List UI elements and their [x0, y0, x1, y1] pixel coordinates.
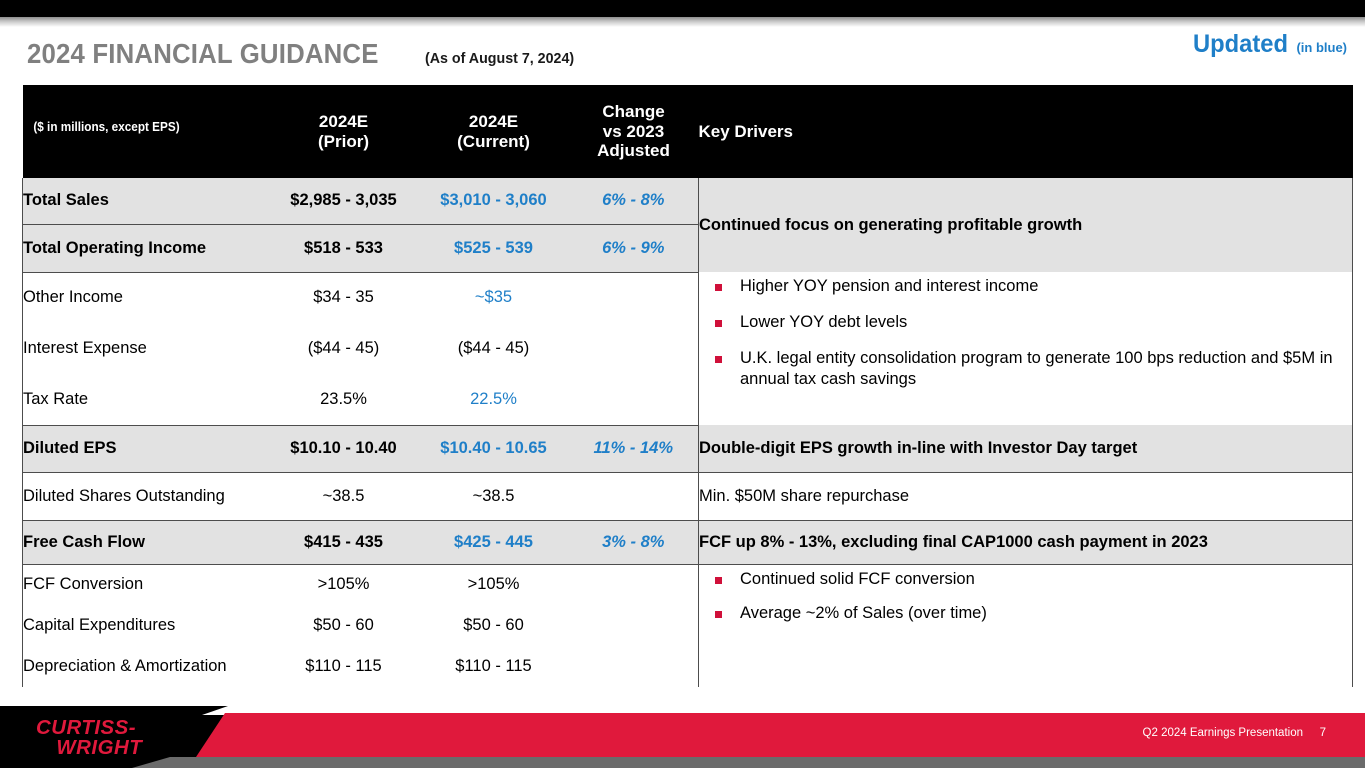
updated-annotation: Updated (in blue): [1188, 30, 1347, 59]
bullet-text: U.K. legal entity consolidation program …: [740, 349, 1333, 388]
top-shadow-gradient: [0, 17, 1365, 27]
row-label-free-cash-flow: Free Cash Flow: [23, 520, 269, 564]
logo-line-1: CURTISS-: [36, 717, 136, 739]
cell-current-capital-expenditures: $50 - 60: [419, 605, 569, 646]
table-row-diluted-shares: Diluted Shares Outstanding ~38.5 ~38.5 M…: [23, 472, 1353, 520]
slide-canvas: 2024 FINANCIAL GUIDANCE (As of August 7,…: [0, 0, 1365, 768]
driver-bullet-list-2: Higher YOY pension and interest income L…: [699, 272, 1352, 390]
slide-footer: CURTISS- WRIGHT Q2 2024 Earnings Present…: [0, 706, 1365, 768]
cell-current-diluted-eps: $10.40 - 10.65: [419, 425, 569, 472]
title-as-of-text: (As of August 7, 2024): [425, 50, 574, 67]
driver-bullet-list-3: Continued solid FCF conversion Average ~…: [699, 565, 1352, 624]
header-prior-line1: 2024E: [269, 112, 419, 132]
bullet-text: Higher YOY pension and interest income: [740, 277, 1038, 295]
list-item: Continued solid FCF conversion: [713, 569, 1352, 590]
row-label-capital-expenditures: Capital Expenditures: [23, 605, 269, 646]
cell-prior-diluted-eps: $10.10 - 10.40: [269, 425, 419, 472]
header-prior-cell: 2024E (Prior): [269, 85, 419, 178]
cell-change-interest-expense: [569, 323, 699, 374]
bullet-text: Continued solid FCF conversion: [740, 570, 975, 588]
table-row-diluted-eps: Diluted EPS $10.10 - 10.40 $10.40 - 10.6…: [23, 425, 1353, 472]
table-row-free-cash-flow: Free Cash Flow $415 - 435 $425 - 445 3% …: [23, 520, 1353, 564]
row-label-interest-expense: Interest Expense: [23, 323, 269, 374]
cell-driver-group-3: Continued solid FCF conversion Average ~…: [699, 564, 1353, 687]
row-label-tax-rate: Tax Rate: [23, 374, 269, 425]
header-current-line2: (Current): [419, 132, 569, 152]
row-label-diluted-eps: Diluted EPS: [23, 425, 269, 472]
title-main-text: 2024 FINANCIAL GUIDANCE: [27, 38, 379, 70]
bullet-square-icon: [715, 320, 722, 327]
header-change-line3: Adjusted: [569, 141, 699, 161]
header-current-line1: 2024E: [419, 112, 569, 132]
cell-change-capital-expenditures: [569, 605, 699, 646]
bullet-square-icon: [715, 356, 722, 363]
cell-driver-diluted-eps: Double-digit EPS growth in-line with Inv…: [699, 425, 1353, 472]
list-item: Lower YOY debt levels: [713, 312, 1352, 333]
cell-change-depreciation-amortization: [569, 646, 699, 687]
cell-prior-capital-expenditures: $50 - 60: [269, 605, 419, 646]
table-row-fcf-conversion: FCF Conversion >105% >105% Continued sol…: [23, 564, 1353, 605]
cell-prior-interest-expense: ($44 - 45): [269, 323, 419, 374]
row-label-depreciation-amortization: Depreciation & Amortization: [23, 646, 269, 687]
cell-change-total-sales: 6% - 8%: [569, 178, 699, 224]
cell-change-total-operating-income: 6% - 9%: [569, 224, 699, 272]
bullet-text: Average ~2% of Sales (over time): [740, 604, 987, 622]
cell-prior-fcf-conversion: >105%: [269, 564, 419, 605]
header-units-label: ($ in millions, except EPS): [23, 120, 254, 143]
table-row-other-income: Other Income $34 - 35 ~$35 Higher YOY pe…: [23, 272, 1353, 323]
cell-prior-diluted-shares: ~38.5: [269, 472, 419, 520]
cell-prior-depreciation-amortization: $110 - 115: [269, 646, 419, 687]
table-header-row: ($ in millions, except EPS) 2024E (Prior…: [23, 85, 1353, 178]
list-item: U.K. legal entity consolidation program …: [713, 348, 1352, 390]
bullet-square-icon: [715, 611, 722, 618]
bullet-square-icon: [715, 577, 722, 584]
list-item: Higher YOY pension and interest income: [713, 276, 1352, 297]
header-change-line1: Change: [569, 102, 699, 122]
header-current-cell: 2024E (Current): [419, 85, 569, 178]
row-label-total-sales: Total Sales: [23, 178, 269, 224]
cell-current-total-operating-income: $525 - 539: [419, 224, 569, 272]
curtiss-wright-logo: CURTISS- WRIGHT: [36, 718, 142, 758]
updated-label: Updated: [1193, 30, 1288, 59]
bullet-square-icon: [715, 284, 722, 291]
header-change-cell: Change vs 2023 Adjusted: [569, 85, 699, 178]
cell-prior-total-operating-income: $518 - 533: [269, 224, 419, 272]
top-black-bar: [0, 0, 1365, 17]
cell-change-fcf-conversion: [569, 564, 699, 605]
cell-change-other-income: [569, 272, 699, 323]
cell-change-tax-rate: [569, 374, 699, 425]
financial-guidance-table: ($ in millions, except EPS) 2024E (Prior…: [22, 85, 1353, 687]
header-prior-line2: (Prior): [269, 132, 419, 152]
cell-current-fcf-conversion: >105%: [419, 564, 569, 605]
cell-change-free-cash-flow: 3% - 8%: [569, 520, 699, 564]
header-key-drivers-cell: Key Drivers: [699, 85, 1353, 178]
cell-prior-tax-rate: 23.5%: [269, 374, 419, 425]
row-label-other-income: Other Income: [23, 272, 269, 323]
cell-driver-merged-growth: Continued focus on generating profitable…: [699, 178, 1353, 272]
logo-line-2: WRIGHT: [36, 738, 142, 758]
page-title: 2024 FINANCIAL GUIDANCE (As of August 7,…: [27, 38, 582, 70]
cell-prior-other-income: $34 - 35: [269, 272, 419, 323]
cell-change-diluted-eps: 11% - 14%: [569, 425, 699, 472]
cell-current-interest-expense: ($44 - 45): [419, 323, 569, 374]
bullet-text: Lower YOY debt levels: [740, 313, 907, 331]
cell-current-tax-rate: 22.5%: [419, 374, 569, 425]
cell-change-diluted-shares: [569, 472, 699, 520]
row-label-diluted-shares: Diluted Shares Outstanding: [23, 472, 269, 520]
header-units-cell: ($ in millions, except EPS): [23, 85, 269, 178]
cell-driver-diluted-shares: Min. $50M share repurchase: [699, 472, 1353, 520]
cell-current-other-income: ~$35: [419, 272, 569, 323]
cell-current-total-sales: $3,010 - 3,060: [419, 178, 569, 224]
cell-current-free-cash-flow: $425 - 445: [419, 520, 569, 564]
updated-sublabel: (in blue): [1296, 40, 1347, 55]
table-row-total-sales: Total Sales $2,985 - 3,035 $3,010 - 3,06…: [23, 178, 1353, 224]
footer-presentation-label: Q2 2024 Earnings Presentation: [1143, 727, 1303, 739]
footer-gray-band: [0, 757, 1365, 768]
cell-driver-group-2: Higher YOY pension and interest income L…: [699, 272, 1353, 425]
cell-current-depreciation-amortization: $110 - 115: [419, 646, 569, 687]
header-change-line2: vs 2023: [569, 122, 699, 142]
cell-prior-free-cash-flow: $415 - 435: [269, 520, 419, 564]
cell-prior-total-sales: $2,985 - 3,035: [269, 178, 419, 224]
cell-driver-free-cash-flow: FCF up 8% - 13%, excluding final CAP1000…: [699, 520, 1353, 564]
footer-page-number: 7: [1320, 727, 1326, 739]
row-label-fcf-conversion: FCF Conversion: [23, 564, 269, 605]
list-item: Average ~2% of Sales (over time): [713, 603, 1352, 624]
cell-current-diluted-shares: ~38.5: [419, 472, 569, 520]
row-label-total-operating-income: Total Operating Income: [23, 224, 269, 272]
